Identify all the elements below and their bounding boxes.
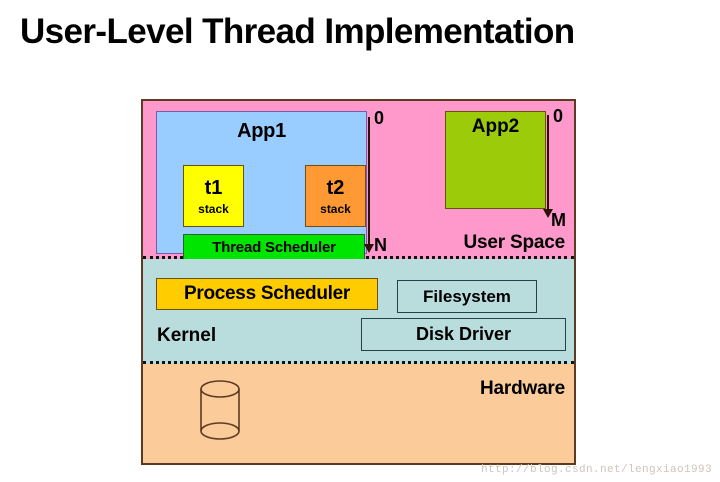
app1-label: App1	[157, 120, 366, 143]
user-space-band: App1 t1 stack t2 stack Thread Scheduler …	[143, 101, 574, 259]
app2-address-end-label: M	[551, 211, 566, 229]
disk-cylinder-icon	[198, 379, 242, 441]
app2-address-space-arrow-icon	[547, 115, 549, 210]
app1-address-space-arrow-icon	[368, 117, 370, 245]
architecture-diagram: App1 t1 stack t2 stack Thread Scheduler …	[141, 99, 576, 465]
thread-t2-name: t2	[327, 177, 345, 199]
thread-t2-stack-label: stack	[320, 203, 351, 216]
app2-address-start-label: 0	[553, 107, 563, 125]
page-title: User-Level Thread Implementation	[20, 10, 710, 54]
watermark: http://blog.csdn.net/lengxiao1993	[481, 464, 712, 476]
kernel-band: Process Scheduler Filesystem Disk Driver…	[143, 259, 574, 364]
kernel-label: Kernel	[157, 325, 216, 347]
filesystem-box: Filesystem	[397, 280, 537, 313]
app2-label: App2	[446, 116, 545, 138]
thread-t1-box: t1 stack	[183, 165, 244, 227]
thread-t1-name: t1	[205, 177, 223, 199]
thread-t2-box: t2 stack	[305, 165, 366, 227]
app1-address-start-label: 0	[374, 109, 384, 127]
app2-box: App2	[445, 111, 546, 209]
hardware-band: Hardware	[143, 364, 574, 463]
thread-t1-stack-label: stack	[198, 203, 229, 216]
disk-driver-box: Disk Driver	[361, 318, 566, 351]
process-scheduler-box: Process Scheduler	[156, 278, 378, 310]
hardware-label: Hardware	[480, 378, 565, 400]
app1-address-end-label: N	[374, 236, 387, 254]
user-space-label: User Space	[463, 232, 565, 254]
app1-box: App1 t1 stack t2 stack Thread Scheduler	[156, 111, 367, 254]
thread-scheduler-box: Thread Scheduler	[183, 234, 365, 261]
